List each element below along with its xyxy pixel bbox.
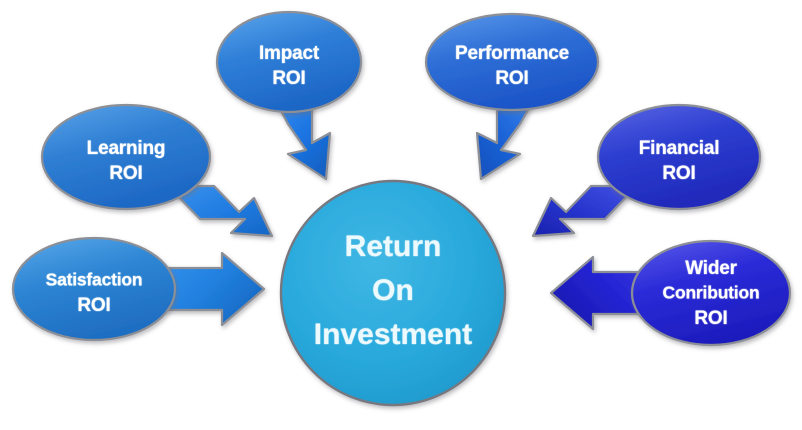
impact-roi-label-line2: ROI [272, 68, 305, 89]
wider-contribution-roi-label-line2: Conribution [663, 283, 760, 303]
roi-diagram-canvas: Learning ROI Impact ROI Performance ROI … [0, 0, 802, 430]
center-node-group[interactable]: Return On Investment [281, 181, 505, 405]
financial-roi-label-line1: Financial [639, 138, 720, 159]
impact-roi-label-line1: Impact [259, 43, 320, 64]
wider-contribution-roi-label-line1: Wider [685, 258, 737, 279]
node-impact-roi[interactable]: Impact ROI [217, 12, 361, 179]
learning-roi-label-line2: ROI [109, 163, 142, 184]
wider-contribution-roi-label-line3: ROI [694, 308, 727, 329]
performance-roi-label-line2: ROI [495, 68, 528, 89]
node-wider-contribution-roi[interactable]: Wider Conribution ROI [551, 241, 790, 345]
satisfaction-roi-label-line1: Satisfaction [46, 270, 143, 290]
node-satisfaction-roi[interactable]: Satisfaction ROI [13, 238, 264, 340]
center-label-line1: Return [345, 230, 442, 263]
center-label-line3: Investment [314, 318, 472, 351]
satisfaction-roi-label-line2: ROI [77, 295, 110, 316]
performance-roi-label-line1: Performance [455, 43, 569, 64]
node-financial-roi[interactable]: Financial ROI [533, 105, 760, 236]
financial-roi-label-line2: ROI [662, 163, 695, 184]
roi-diagram: Learning ROI Impact ROI Performance ROI … [0, 0, 802, 430]
node-performance-roi[interactable]: Performance ROI [426, 14, 598, 179]
node-learning-roi[interactable]: Learning ROI [42, 105, 272, 236]
learning-roi-label-line1: Learning [87, 138, 166, 159]
center-label-line2: On [372, 274, 414, 307]
